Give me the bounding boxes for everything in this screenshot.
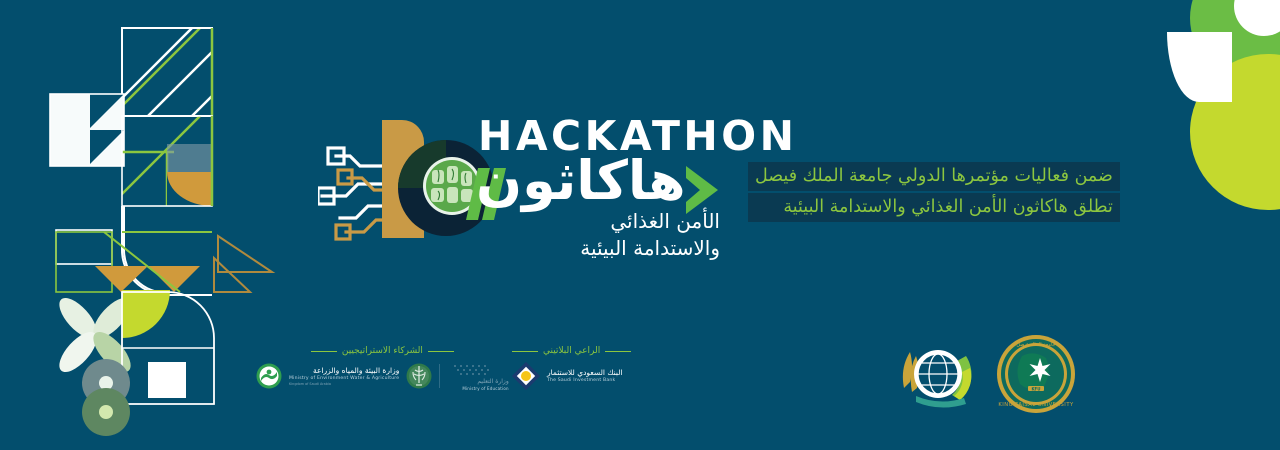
rule-right bbox=[311, 351, 337, 352]
ministry-education-icon bbox=[406, 363, 432, 389]
green-circles-decor-icon bbox=[1190, 0, 1280, 210]
hackathon-logo: HACKATHON هاكاثون الأمن الغذائي والاستدا… bbox=[318, 108, 738, 283]
svg-text:KFU: KFU bbox=[1031, 386, 1040, 391]
ministry-education-text: وزارة التعليم Ministry of Education bbox=[462, 378, 508, 391]
headline-panel: ضمن فعاليات مؤتمرها الدولي جامعة الملك ف… bbox=[748, 162, 1120, 222]
svg-text:جامعة الملك فيصل: جامعة الملك فيصل bbox=[1016, 342, 1055, 348]
strategic-partners-logos: وزارة البيئة والمياه والزراعة Ministry o… bbox=[256, 362, 509, 391]
chevron-right-icon bbox=[686, 166, 718, 214]
event-banner: HACKATHON هاكاثون الأمن الغذائي والاستدا… bbox=[0, 0, 1280, 450]
rule-left bbox=[605, 351, 631, 352]
svg-text:KING FAISAL UNIVERSITY: KING FAISAL UNIVERSITY bbox=[998, 402, 1074, 408]
white-quarter-circle-icon bbox=[1167, 32, 1232, 102]
globe-wheat-icon bbox=[896, 338, 980, 412]
rule-left bbox=[428, 351, 454, 352]
sponsor-divider bbox=[439, 364, 440, 388]
saudi-investment-bank-text: البنك السعودي للاستثمار The Saudi Invest… bbox=[547, 368, 623, 383]
ministry-environment-icon bbox=[256, 363, 282, 389]
hackathon-title-ar: هاكاثون bbox=[476, 154, 686, 208]
headline-line-2: تطلق هاكاثون الأمن الغذائي والاستدامة ال… bbox=[748, 193, 1120, 222]
strategic-partners-group: الشركاء الاستراتيجيين وزارة البيئة والمي… bbox=[256, 346, 509, 391]
hackathon-tagline: الأمن الغذائي والاستدامة البيئية bbox=[580, 208, 720, 262]
ministry-environment-text: وزارة البيئة والمياه والزراعة Ministry o… bbox=[289, 366, 399, 386]
tagline-line-2: والاستدامة البيئية bbox=[580, 235, 720, 262]
saudi-investment-bank-icon bbox=[512, 362, 540, 390]
strategic-partners-heading: الشركاء الاستراتيجيين bbox=[256, 346, 509, 356]
platinum-sponsor-heading: الراعي البلاتيني bbox=[512, 346, 631, 356]
platinum-sponsor-group: الراعي البلاتيني البنك السعودي للاستثمار… bbox=[512, 346, 631, 390]
tagline-line-1: الأمن الغذائي bbox=[580, 208, 720, 235]
headline-line-1: ضمن فعاليات مؤتمرها الدولي جامعة الملك ف… bbox=[748, 162, 1120, 191]
rule-right bbox=[512, 351, 538, 352]
kfu-seal-icon: KFU KING FAISAL UNIVERSITY جامعة الملك ف… bbox=[996, 334, 1076, 414]
platinum-sponsor-logos: البنك السعودي للاستثمار The Saudi Invest… bbox=[512, 362, 631, 390]
sponsor-strip: الشركاء الاستراتيجيين وزارة البيئة والمي… bbox=[0, 336, 1280, 416]
